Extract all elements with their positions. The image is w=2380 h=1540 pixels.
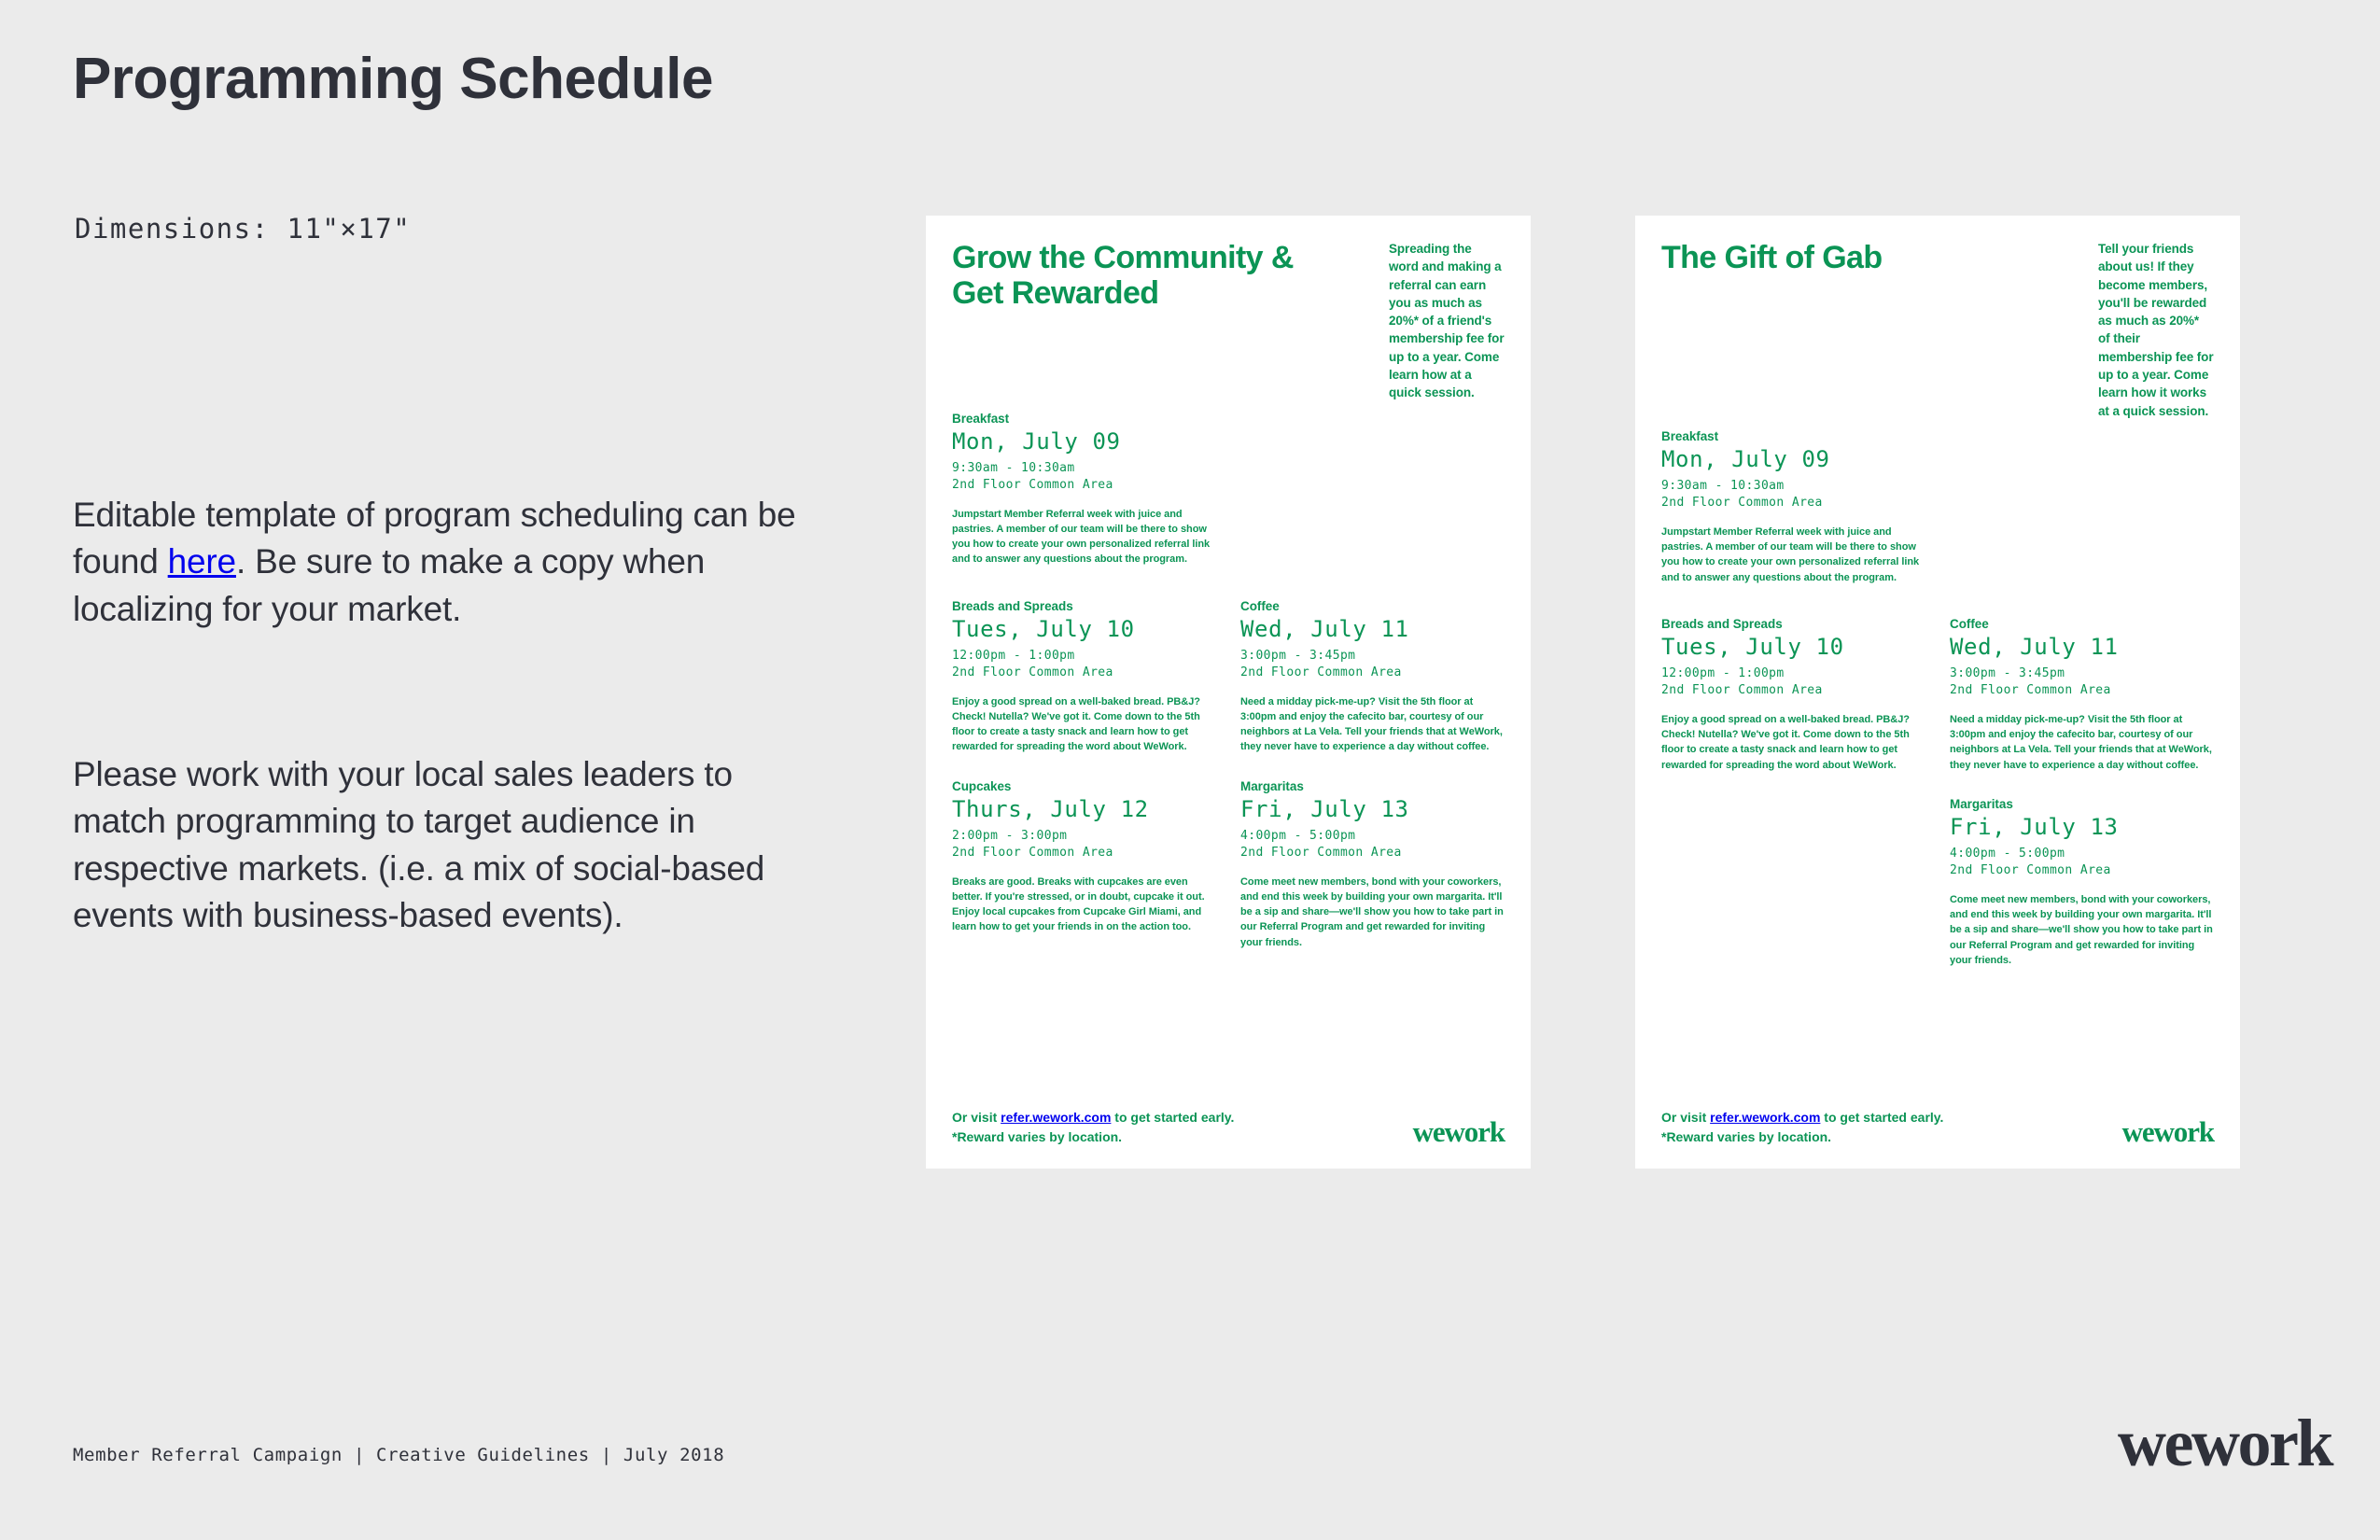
event-description: Jumpstart Member Referral week with juic… — [952, 507, 1216, 567]
wework-logo: wework — [2118, 1409, 2331, 1477]
event-category: Breads and Spreads — [1661, 617, 1925, 631]
event-place: 2nd Floor Common Area — [1661, 682, 1925, 699]
poster-1-footer-text: Or visit refer.wework.com to get started… — [952, 1108, 1234, 1146]
event-time: 2:00pm - 3:00pm — [952, 828, 1216, 845]
refer-wework-link[interactable]: refer.wework.com — [1001, 1110, 1111, 1125]
event-place: 2nd Floor Common Area — [952, 665, 1216, 681]
event-category: Margaritas — [1950, 797, 2214, 811]
event-place: 2nd Floor Common Area — [1950, 682, 2214, 699]
poster-card-2[interactable]: The Gift of Gab Tell your friends about … — [1635, 216, 2240, 1169]
poster-1-footer: Or visit refer.wework.com to get started… — [952, 1108, 1505, 1146]
event-time: 4:00pm - 5:00pm — [1950, 846, 2214, 862]
event-place: 2nd Floor Common Area — [952, 477, 1216, 494]
dimensions-label: Dimensions: 11"×17" — [75, 213, 411, 245]
event-category: Coffee — [1240, 599, 1505, 613]
event-description: Need a midday pick-me-up? Visit the 5th … — [1950, 712, 2214, 773]
event-description: Come meet new members, bond with your co… — [1240, 875, 1505, 950]
poster-2-row-1: Breads and Spreads Tues, July 10 12:00pm… — [1661, 617, 2214, 777]
event-category: Breads and Spreads — [952, 599, 1216, 613]
poster-1-blurb: Spreading the word and making a referral… — [1389, 240, 1505, 402]
refer-wework-link[interactable]: refer.wework.com — [1710, 1110, 1820, 1125]
event-breakfast: Breakfast Mon, July 09 9:30am - 10:30am … — [952, 412, 1216, 567]
event-description: Need a midday pick-me-up? Visit the 5th … — [1240, 694, 1505, 755]
event-breads-and-spreads: Breads and Spreads Tues, July 10 12:00pm… — [1661, 617, 1925, 773]
event-description: Jumpstart Member Referral week with juic… — [1661, 525, 1925, 585]
poster-2-footer-text: Or visit refer.wework.com to get started… — [1661, 1108, 1943, 1146]
here-link[interactable]: here — [168, 542, 236, 581]
poster-card-1[interactable]: Grow the Community & Get Rewarded Spread… — [926, 216, 1531, 1169]
poster-1-row-1: Breads and Spreads Tues, July 10 12:00pm… — [952, 599, 1505, 759]
event-category: Breakfast — [1661, 429, 1925, 443]
event-time: 9:30am - 10:30am — [952, 460, 1216, 477]
event-date: Wed, July 11 — [1950, 634, 2214, 660]
poster-2-blurb: Tell your friends about us! If they beco… — [2098, 240, 2214, 420]
event-breads-and-spreads: Breads and Spreads Tues, July 10 12:00pm… — [952, 599, 1216, 755]
event-date: Thurs, July 12 — [952, 796, 1216, 822]
poster-1-footer-line-1: Or visit refer.wework.com to get started… — [952, 1108, 1234, 1127]
description-paragraph-2: Please work with your local sales leader… — [73, 751, 810, 939]
event-description: Enjoy a good spread on a well-baked brea… — [952, 694, 1216, 755]
event-description: Come meet new members, bond with your co… — [1950, 892, 2214, 968]
footer-text-before: Or visit — [1661, 1110, 1710, 1125]
event-place: 2nd Floor Common Area — [1240, 665, 1505, 681]
poster-2-events: Breakfast Mon, July 09 9:30am - 10:30am … — [1661, 429, 2214, 972]
poster-2-footer: Or visit refer.wework.com to get started… — [1661, 1108, 2214, 1146]
poster-1-events: Breakfast Mon, July 09 9:30am - 10:30am … — [952, 412, 1505, 954]
event-place: 2nd Floor Common Area — [1661, 495, 1925, 511]
event-place: 2nd Floor Common Area — [1950, 862, 2214, 879]
event-category: Margaritas — [1240, 779, 1505, 793]
event-place: 2nd Floor Common Area — [952, 845, 1216, 861]
page-title: Programming Schedule — [73, 49, 713, 109]
description-paragraph-1: Editable template of program scheduling … — [73, 492, 810, 633]
footer-text-after: to get started early. — [1820, 1110, 1943, 1125]
event-category: Breakfast — [952, 412, 1216, 426]
poster-1-header: Grow the Community & Get Rewarded Spread… — [952, 240, 1505, 402]
event-cupcakes: Cupcakes Thurs, July 12 2:00pm - 3:00pm … — [952, 779, 1216, 950]
poster-1-footer-line-2: *Reward varies by location. — [952, 1127, 1234, 1146]
poster-2-footer-line-1: Or visit refer.wework.com to get started… — [1661, 1108, 1943, 1127]
footer-text-before: Or visit — [952, 1110, 1001, 1125]
footer-note: Member Referral Campaign | Creative Guid… — [73, 1445, 724, 1465]
event-date: Mon, July 09 — [952, 428, 1216, 455]
poster-2-row-2: Margaritas Fri, July 13 4:00pm - 5:00pm … — [1661, 797, 2214, 972]
event-margaritas: Margaritas Fri, July 13 4:00pm - 5:00pm … — [1950, 797, 2214, 968]
poster-2-breakfast-row: Breakfast Mon, July 09 9:30am - 10:30am … — [1661, 429, 2214, 589]
event-date: Mon, July 09 — [1661, 446, 1925, 472]
event-time: 12:00pm - 1:00pm — [1661, 665, 1925, 682]
event-category: Cupcakes — [952, 779, 1216, 793]
event-date: Tues, July 10 — [952, 616, 1216, 642]
event-time: 4:00pm - 5:00pm — [1240, 828, 1505, 845]
event-date: Fri, July 13 — [1950, 814, 2214, 840]
footer-text-after: to get started early. — [1111, 1110, 1234, 1125]
event-description: Enjoy a good spread on a well-baked brea… — [1661, 712, 1925, 773]
event-time: 3:00pm - 3:45pm — [1950, 665, 2214, 682]
poster-2-wework-logo: wework — [2122, 1117, 2214, 1146]
event-time: 9:30am - 10:30am — [1661, 478, 1925, 495]
event-margaritas: Margaritas Fri, July 13 4:00pm - 5:00pm … — [1240, 779, 1505, 950]
event-time: 3:00pm - 3:45pm — [1240, 648, 1505, 665]
event-coffee: Coffee Wed, July 11 3:00pm - 3:45pm 2nd … — [1240, 599, 1505, 755]
poster-1-breakfast-row: Breakfast Mon, July 09 9:30am - 10:30am … — [952, 412, 1505, 571]
event-breakfast: Breakfast Mon, July 09 9:30am - 10:30am … — [1661, 429, 1925, 585]
event-category: Coffee — [1950, 617, 2214, 631]
poster-1-title: Grow the Community & Get Rewarded — [952, 240, 1325, 312]
event-place: 2nd Floor Common Area — [1240, 845, 1505, 861]
poster-1-wework-logo: wework — [1413, 1117, 1505, 1146]
poster-2-header: The Gift of Gab Tell your friends about … — [1661, 240, 2214, 420]
event-date: Tues, July 10 — [1661, 634, 1925, 660]
poster-2-title: The Gift of Gab — [1661, 240, 1883, 275]
event-coffee: Coffee Wed, July 11 3:00pm - 3:45pm 2nd … — [1950, 617, 2214, 773]
event-time: 12:00pm - 1:00pm — [952, 648, 1216, 665]
poster-2-footer-line-2: *Reward varies by location. — [1661, 1127, 1943, 1146]
event-date: Wed, July 11 — [1240, 616, 1505, 642]
event-date: Fri, July 13 — [1240, 796, 1505, 822]
poster-1-row-2: Cupcakes Thurs, July 12 2:00pm - 3:00pm … — [952, 779, 1505, 954]
event-description: Breaks are good. Breaks with cupcakes ar… — [952, 875, 1216, 935]
